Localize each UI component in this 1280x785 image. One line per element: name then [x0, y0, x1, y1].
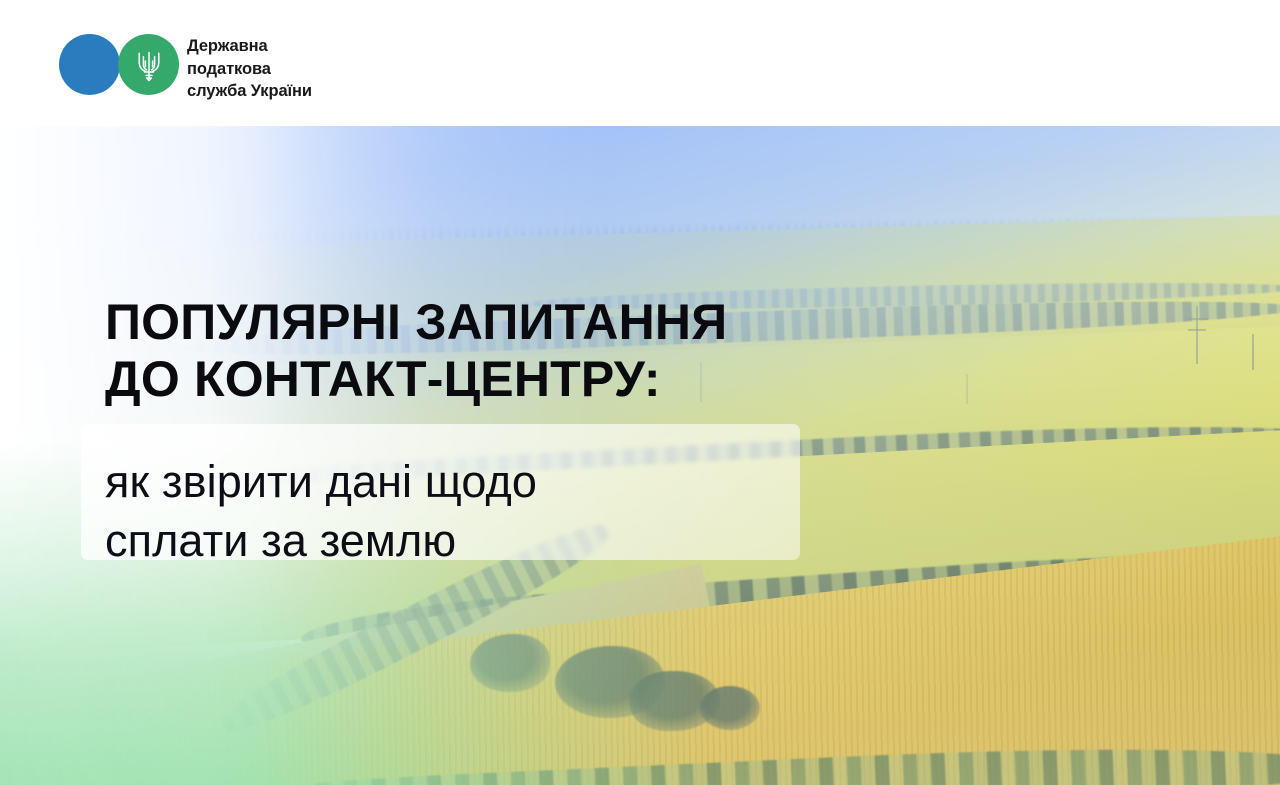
- blue-circle-icon: [59, 34, 120, 95]
- logo-text: Державнаподатковаслужба України: [187, 34, 312, 103]
- logo-text-line-2: податкова: [187, 60, 271, 78]
- header-bar: Державнаподатковаслужба України: [0, 0, 1280, 126]
- logo-text-line-3: служба України: [187, 82, 312, 100]
- green-circle-icon: [118, 34, 179, 95]
- hero-subtitle: як звірити дані щодо сплати за землю: [105, 452, 805, 570]
- hero-content: ПОПУЛЯРНІ ЗАПИТАННЯ ДО КОНТАКТ-ЦЕНТРУ: я…: [0, 126, 1280, 785]
- dps-logo[interactable]: Державнаподатковаслужба України: [59, 34, 312, 103]
- hero-headline: ПОПУЛЯРНІ ЗАПИТАННЯ ДО КОНТАКТ-ЦЕНТРУ:: [105, 294, 727, 408]
- ukrainian-trident-icon: [136, 48, 162, 82]
- logo-text-line-1: Державна: [187, 37, 268, 55]
- logo-marks: [59, 34, 179, 96]
- promo-banner: Державнаподатковаслужба України: [0, 0, 1280, 785]
